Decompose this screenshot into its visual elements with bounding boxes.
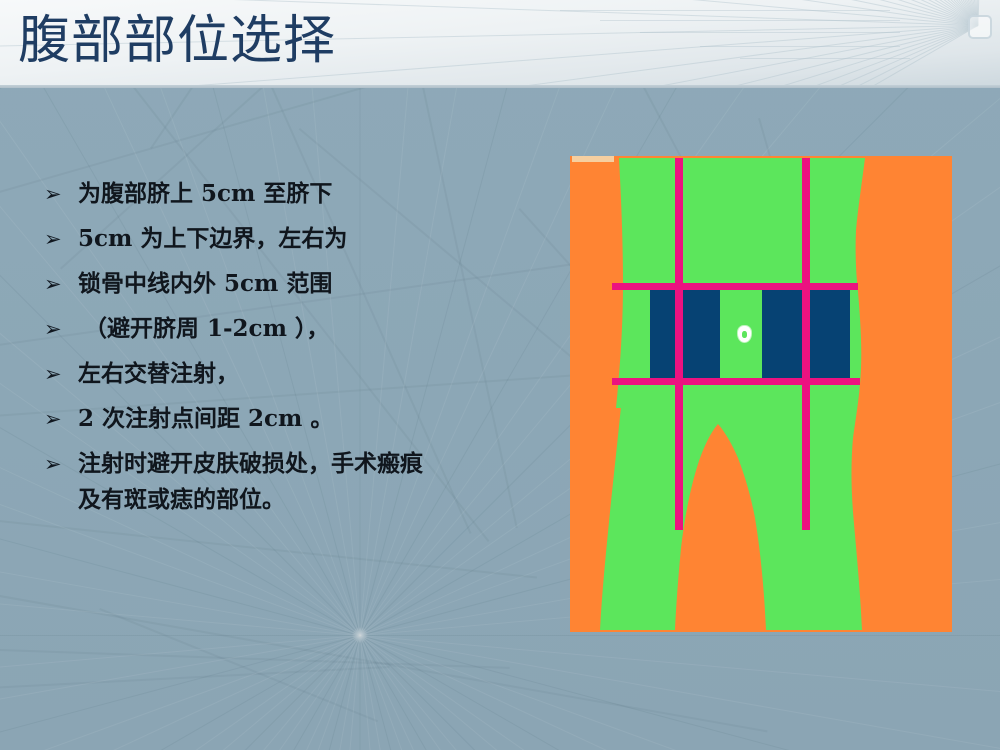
left-midclavicular-vertical-line — [675, 158, 683, 530]
bullet-item: ➢2 次注射点间距 2cm 。 — [44, 401, 554, 437]
bullet-arrow-icon: ➢ — [44, 176, 78, 212]
bullet-item: ➢锁骨中线内外 5cm 范围 — [44, 266, 554, 302]
bullet-arrow-icon: ➢ — [44, 311, 78, 347]
page-title: 腹部部位选择 — [18, 6, 336, 76]
header-burst-node-icon — [968, 15, 992, 39]
bullet-item: ➢（避开脐周 1-2cm ）， — [44, 311, 554, 347]
bullet-item: ➢为腹部脐上 5cm 至脐下 — [44, 176, 554, 212]
slide-header: 腹部部位选择 — [0, 0, 1000, 88]
upper-boundary-horizontal-line — [612, 283, 858, 290]
bullet-arrow-icon: ➢ — [44, 446, 78, 482]
bullet-list: ➢为腹部脐上 5cm 至脐下➢5cm 为上下边界，左右为➢锁骨中线内外 5cm … — [44, 176, 554, 527]
bullet-item: ➢注射时避开皮肤破损处，手术瘢痕 及有斑或痣的部位。 — [44, 446, 554, 518]
bullet-item-text: 左右交替注射， — [78, 356, 554, 392]
left-injection-zone — [650, 285, 720, 381]
bullet-item-text: 2 次注射点间距 2cm 。 — [78, 401, 554, 437]
bullet-item-text: 锁骨中线内外 5cm 范围 — [78, 266, 554, 302]
bullet-item-text: 5cm 为上下边界，左右为 — [78, 221, 554, 257]
bullet-arrow-icon: ➢ — [44, 221, 78, 257]
bullet-arrow-icon: ➢ — [44, 356, 78, 392]
bullet-item-text: 为腹部脐上 5cm 至脐下 — [78, 176, 554, 212]
bullet-item: ➢左右交替注射， — [44, 356, 554, 392]
bullet-item-text: （避开脐周 1-2cm ）， — [78, 311, 554, 347]
bullet-arrow-icon: ➢ — [44, 266, 78, 302]
bullet-arrow-icon: ➢ — [44, 401, 78, 437]
header-divider — [0, 85, 1000, 88]
right-midclavicular-vertical-line — [802, 158, 810, 530]
lower-boundary-horizontal-line — [612, 378, 860, 385]
navel-marker — [738, 326, 751, 342]
bullet-item-text: 注射时避开皮肤破损处，手术瘢痕 及有斑或痣的部位。 — [78, 446, 554, 518]
abdomen-injection-site-diagram — [570, 156, 952, 632]
slide: 腹部部位选择 ➢为腹部脐上 5cm 至脐下➢5cm 为上下边界，左右为➢锁骨中线… — [0, 0, 1000, 750]
background-burst-center — [352, 627, 368, 643]
body-silhouette — [570, 156, 952, 632]
bullet-item: ➢5cm 为上下边界，左右为 — [44, 221, 554, 257]
